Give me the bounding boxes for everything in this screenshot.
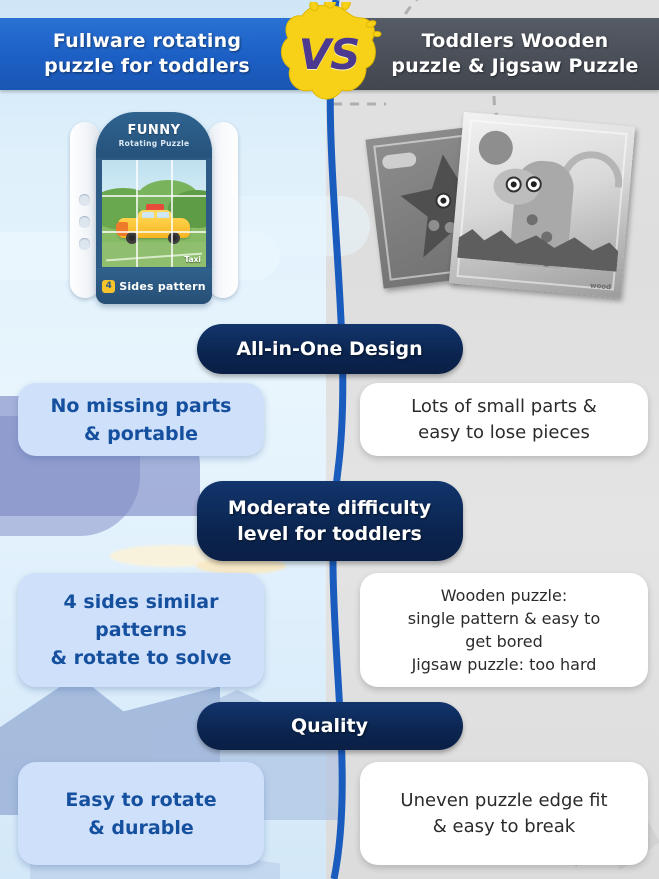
comparison-right-card-3-text: Uneven puzzle edge fit& easy to break — [400, 788, 607, 840]
sides-count-badge: 4 — [102, 280, 115, 293]
comparison-title-1: All-in-One Design — [197, 324, 463, 374]
header-left-line2: puzzle for toddlers — [44, 54, 250, 79]
header-right-title: Toddlers Wooden puzzle & Jigsaw Puzzle — [374, 18, 656, 90]
comparison-left-card-2-text: 4 sides similarpatterns& rotate to solve — [51, 588, 232, 672]
vs-label: VS — [274, 2, 384, 106]
header-right-line2: puzzle & Jigsaw Puzzle — [391, 54, 638, 79]
product-subtitle: Rotating Puzzle — [119, 139, 190, 148]
comparison-title-2-line1: Moderate difficulty — [228, 495, 431, 521]
product-brand: FUNNY — [127, 123, 180, 138]
product-puzzle-artwork: Taxi — [102, 160, 206, 267]
sides-pattern-label: Sides pattern — [119, 280, 206, 293]
comparison-title-2: Moderate difficulty level for toddlers — [197, 481, 463, 561]
comparison-right-card-3: Uneven puzzle edge fit& easy to break — [360, 762, 648, 865]
comparison-left-card-3-text: Easy to rotate& durable — [65, 786, 216, 842]
header-left-title: Fullware rotating puzzle for toddlers — [8, 18, 286, 90]
device-footer: 4 Sides pattern — [96, 268, 212, 304]
comparison-left-card-2: 4 sides similarpatterns& rotate to solve — [18, 573, 264, 687]
comparison-right-card-1-text: Lots of small parts &easy to lose pieces — [411, 394, 597, 446]
device-brand-header: FUNNY Rotating Puzzle — [96, 112, 212, 158]
comparison-title-2-line2: level for toddlers — [237, 521, 422, 547]
product-device-image: FUNNY Rotating Puzzle Taxi — [74, 112, 234, 307]
comparison-right-card-1: Lots of small parts &easy to lose pieces — [360, 383, 648, 456]
device-handle-right — [208, 122, 238, 298]
comparison-right-card-2-text: Wooden puzzle:single pattern & easy toge… — [408, 584, 601, 676]
device-body: FUNNY Rotating Puzzle Taxi — [96, 112, 212, 304]
artwork-label: Taxi — [184, 255, 201, 264]
wooden-puzzle-brand-mark: wood — [590, 282, 612, 292]
infographic-root: Fullware rotating puzzle for toddlers To… — [0, 0, 659, 879]
taxi-illustration — [118, 208, 190, 242]
comparison-left-card-3: Easy to rotate& durable — [18, 762, 264, 865]
wooden-puzzle-giraffe: wood — [449, 112, 635, 298]
comparison-title-3-line1: Quality — [291, 713, 368, 739]
comparison-right-card-2: Wooden puzzle:single pattern & easy toge… — [360, 573, 648, 687]
header-left-line1: Fullware rotating — [53, 29, 241, 54]
comparison-title-1-line1: All-in-One Design — [236, 336, 422, 362]
comparison-title-3: Quality — [197, 702, 463, 750]
header-right-line1: Toddlers Wooden — [422, 29, 609, 54]
comparison-left-card-1-text: No missing parts& portable — [51, 392, 232, 448]
comparison-left-card-1: No missing parts& portable — [18, 383, 264, 456]
